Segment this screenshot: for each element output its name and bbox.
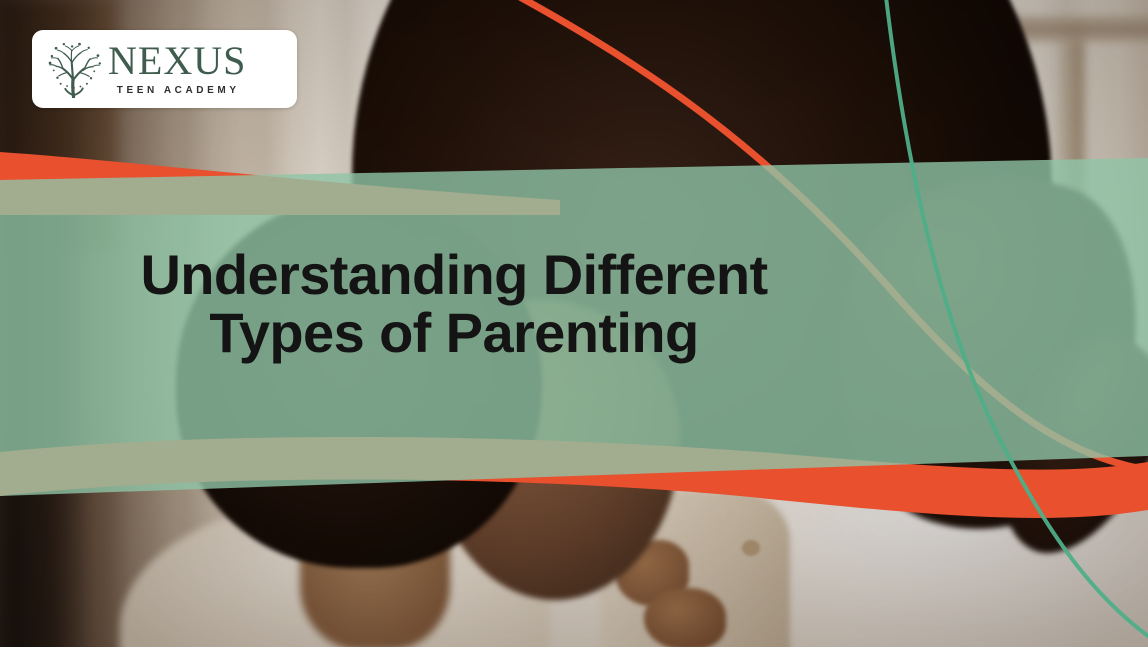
logo-card[interactable]: NEXUS TEEN ACADEMY	[32, 30, 297, 108]
logo-name: NEXUS	[108, 41, 246, 81]
logo-tagline: TEEN ACADEMY	[110, 84, 246, 97]
logo-wordmark: NEXUS TEEN ACADEMY	[108, 41, 246, 97]
blog-header-banner: Understanding Different Types of Parenti…	[0, 0, 1148, 647]
tree-icon	[46, 40, 102, 98]
page-title: Understanding Different Types of Parenti…	[0, 246, 908, 362]
